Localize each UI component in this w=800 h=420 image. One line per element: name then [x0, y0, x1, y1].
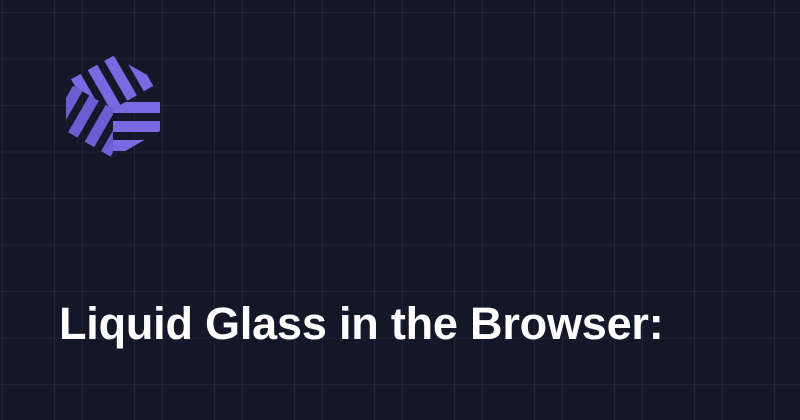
- logo-face-right: [105, 102, 166, 158]
- page-title: Liquid Glass in the Browser: Refraction …: [59, 196, 759, 420]
- brand-logo: [60, 56, 166, 158]
- hexagon-cube-icon: [60, 56, 166, 158]
- og-banner-card: Liquid Glass in the Browser: Refraction …: [0, 0, 800, 420]
- banner-content: Liquid Glass in the Browser: Refraction …: [0, 0, 800, 420]
- page-title-line-1: Liquid Glass in the Browser:: [59, 298, 759, 349]
